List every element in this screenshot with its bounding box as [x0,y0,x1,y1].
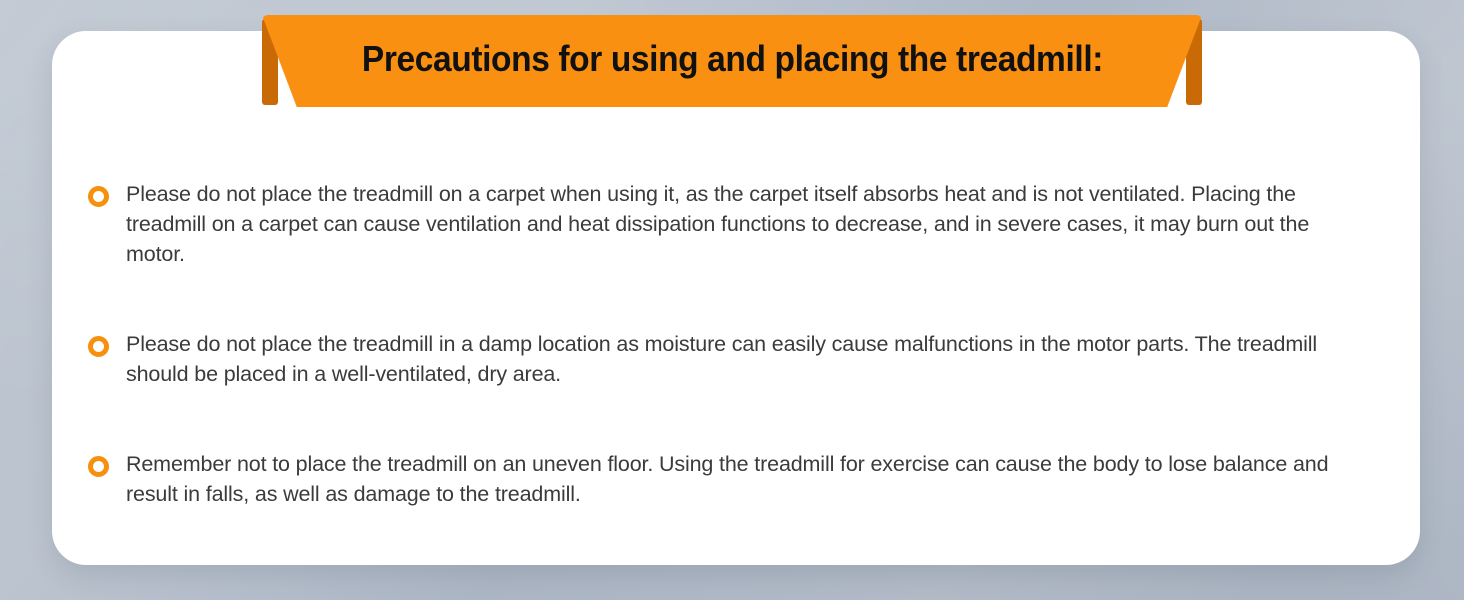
title-banner: Precautions for using and placing the tr… [262,15,1202,107]
list-item: Please do not place the treadmill on a c… [88,179,1386,269]
list-item: Remember not to place the treadmill on a… [88,449,1386,509]
page-title: Precautions for using and placing the tr… [361,41,1102,77]
precautions-list: Please do not place the treadmill on a c… [88,179,1386,509]
banner-ribbon: Precautions for using and placing the tr… [262,15,1202,107]
list-item-text: Please do not place the treadmill on a c… [126,179,1358,269]
list-item-text: Please do not place the treadmill in a d… [126,329,1358,389]
content-card: Please do not place the treadmill on a c… [52,31,1420,565]
orange-ring-icon [88,336,109,357]
infographic-canvas: Please do not place the treadmill on a c… [0,0,1464,600]
orange-ring-icon [88,186,109,207]
list-item: Please do not place the treadmill in a d… [88,329,1386,389]
list-item-text: Remember not to place the treadmill on a… [126,449,1358,509]
orange-ring-icon [88,456,109,477]
